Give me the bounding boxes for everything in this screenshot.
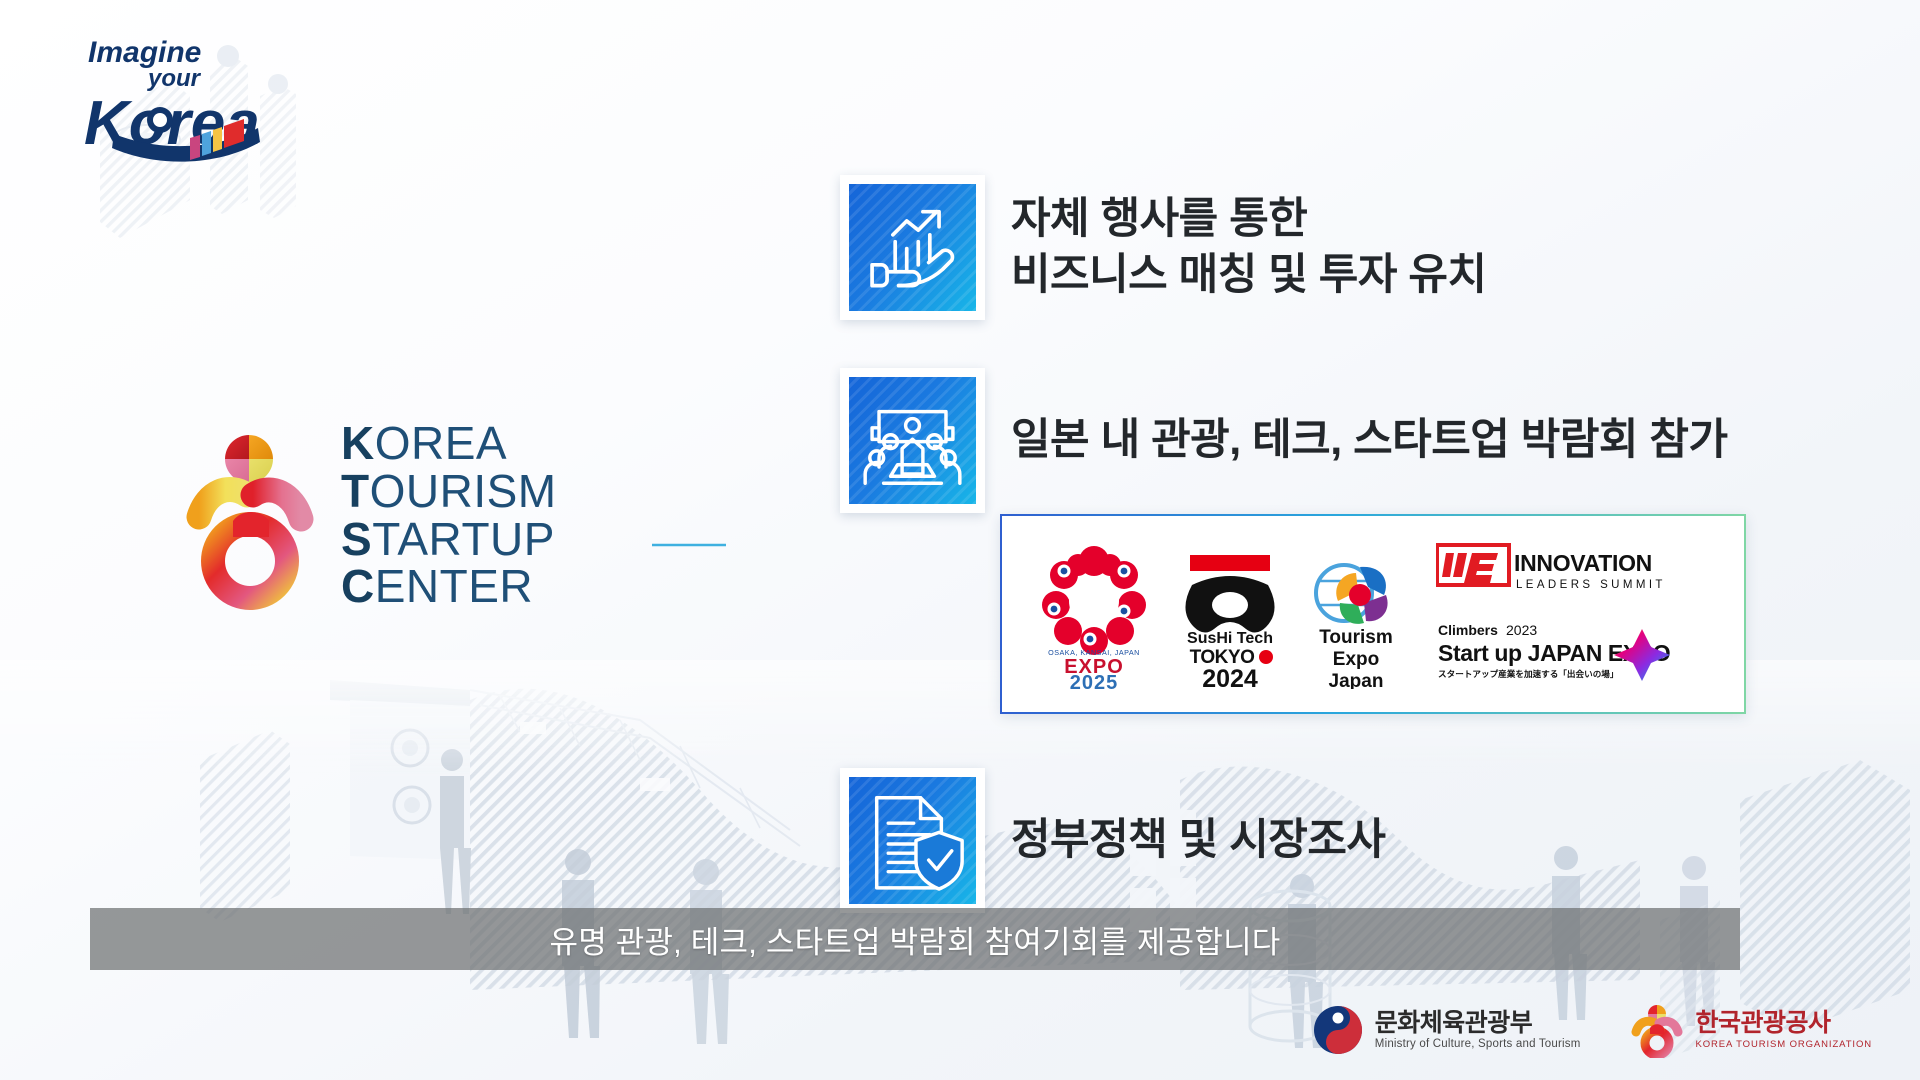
ktsc-rest-tourism: OURISM: [370, 465, 557, 517]
imagine-your-korea-logo: Imagine your Korea: [80, 28, 280, 168]
hand-growth-chart-tile[interactable]: [840, 175, 985, 320]
partner-logo-stack-right: INNOVATION LEADERS SUMMIT Climbers 2023 …: [1436, 543, 1676, 685]
document-shield-icon: [849, 777, 976, 904]
feature-label-line1: 자체 행사를 통한: [1011, 195, 1307, 243]
feature-label-policy-research: 정부정책 및 시장조사: [1011, 813, 1385, 869]
ils-title: INNOVATION: [1514, 550, 1652, 576]
conference-presentation-tile[interactable]: [840, 368, 985, 513]
hand-growth-chart-icon: [849, 184, 976, 311]
ktsc-initial-k: K: [341, 417, 375, 469]
feature-label-business-matching: 자체 행사를 통한 비즈니스 매칭 및 투자 유치: [1011, 192, 1486, 304]
ktsc-initial-c: C: [341, 560, 375, 612]
org-name-ko-kto: 한국관광공사: [1696, 1010, 1872, 1036]
svg-text:your: your: [147, 65, 202, 92]
ktsc-rest-startup: TARTUP: [372, 513, 555, 565]
taegeuk-icon: [1312, 1004, 1364, 1056]
partner-logo-panel: OSAKA, KANSAI, JAPAN EXPO 2025 SusHi Tec…: [1000, 514, 1746, 714]
ktsc-figure-mark: [185, 421, 315, 611]
partner-logo-expo-2025: OSAKA, KANSAI, JAPAN EXPO 2025: [1028, 539, 1160, 689]
ils-innovation-leaders-summit-logo: INNOVATION LEADERS SUMMIT: [1436, 543, 1676, 599]
feature-label-line1: 정부정책 및 시장조사: [1011, 816, 1385, 864]
org-name-ko-mcst: 문화체육관광부: [1375, 1010, 1581, 1036]
sushi-tech-year: 2024: [1202, 665, 1258, 689]
feature-label-japan-expo: 일본 내 관광, 테크, 스타트업 박람회 참가: [1011, 413, 1728, 469]
document-shield-tile[interactable]: [840, 768, 985, 913]
climbers-supertext-a: Climbers: [1438, 622, 1498, 638]
ktsc-initial-t: T: [341, 465, 370, 517]
ktsc-line-startup: STARTUP: [341, 516, 557, 564]
partner-logo-sushi-tech-tokyo: SusHi Tech TOKYO 2024: [1174, 539, 1286, 689]
conference-presentation-icon: [849, 377, 976, 504]
org-logo-kto: 한국관광공사 KOREA TOURISM ORGANIZATION: [1629, 1002, 1872, 1058]
caption-bar: 유명 관광, 테크, 스타트업 박람회 참여기회를 제공합니다: [90, 908, 1740, 970]
climbers-subtitle: スタートアップ産業を加速する「出会いの場」: [1438, 668, 1618, 679]
feature-label-line1: 일본 내 관광, 테크, 스타트업 박람회 참가: [1011, 416, 1728, 464]
climbers-startup-japan-expo-logo: Climbers 2023 Start up JAPAN EXPO スタートアッ…: [1436, 621, 1676, 685]
sushi-tech-tokyo-logo: SusHi Tech TOKYO 2024: [1174, 539, 1286, 689]
ktsc-line-center: CENTER: [341, 563, 557, 611]
ktsc-line-korea: KOREA: [341, 420, 557, 468]
tourism-expo-japan-logo: Tourism Expo Japan: [1300, 539, 1412, 689]
footer-organization-logos: 문화체육관광부 Ministry of Culture, Sports and …: [1312, 1002, 1872, 1058]
ktsc-brand-block: KOREA TOURISM STARTUP CENTER: [185, 420, 557, 611]
ktsc-initial-s: S: [341, 513, 372, 565]
ktsc-rest-center: ENTER: [375, 560, 533, 612]
feature-row-japan-expo[interactable]: 일본 내 관광, 테크, 스타트업 박람회 참가: [840, 368, 1728, 513]
ktsc-rest-korea: OREA: [375, 417, 507, 469]
org-name-en-mcst: Ministry of Culture, Sports and Tourism: [1375, 1038, 1581, 1050]
ktsc-line-tourism: TOURISM: [341, 468, 557, 516]
expo-2025-logo: OSAKA, KANSAI, JAPAN EXPO 2025: [1028, 539, 1160, 689]
tourism-expo-line3: Japan: [1329, 671, 1384, 689]
partner-logo-tourism-expo-japan: Tourism Expo Japan: [1300, 539, 1412, 689]
sushi-tech-line1: SusHi Tech: [1187, 630, 1273, 647]
slide-canvas: Imagine your Korea: [0, 0, 1920, 1080]
org-logo-mcst: 문화체육관광부 Ministry of Culture, Sports and …: [1312, 1004, 1581, 1056]
ktsc-wordmark: KOREA TOURISM STARTUP CENTER: [341, 420, 557, 611]
feature-row-policy-research[interactable]: 정부정책 및 시장조사: [840, 768, 1385, 913]
tourism-expo-line2: Expo: [1333, 649, 1379, 670]
tourism-expo-line1: Tourism: [1319, 627, 1393, 648]
feature-label-line2: 비즈니스 매칭 및 투자 유치: [1011, 248, 1486, 304]
org-name-en-kto: KOREA TOURISM ORGANIZATION: [1696, 1039, 1872, 1050]
climbers-supertext-b: 2023: [1506, 622, 1537, 638]
kto-figure-icon: [1629, 1002, 1685, 1058]
expo-2025-year: 2025: [1070, 672, 1119, 689]
feature-row-business-matching[interactable]: 자체 행사를 통한 비즈니스 매칭 및 투자 유치: [840, 175, 1486, 320]
ils-subtitle: LEADERS SUMMIT: [1516, 579, 1666, 591]
caption-text: 유명 관광, 테크, 스타트업 박람회 참여기회를 제공합니다: [549, 917, 1280, 962]
